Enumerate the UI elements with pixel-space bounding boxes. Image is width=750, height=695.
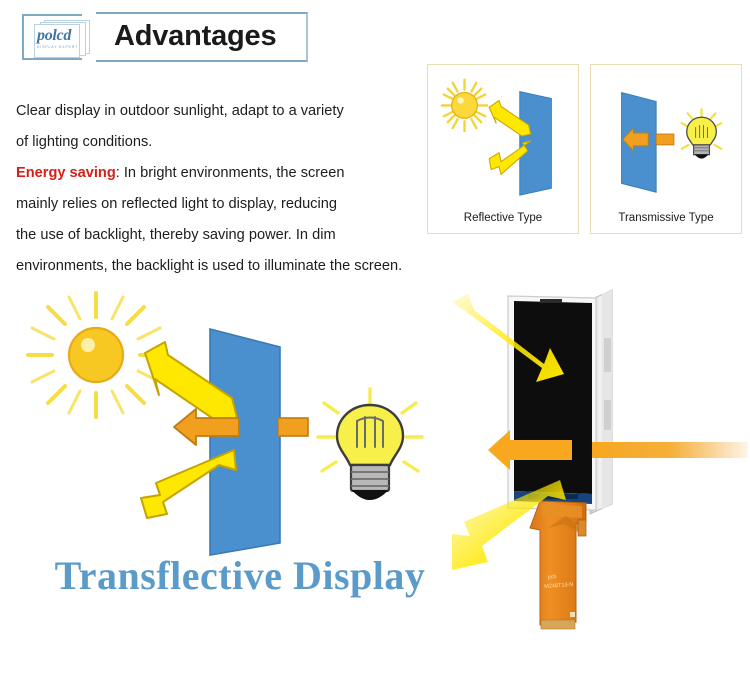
- copy-line-4: mainly relies on reflected light to disp…: [16, 189, 426, 220]
- svg-text:pcb: pcb: [547, 574, 556, 581]
- copy-line-1: Clear display in outdoor sunlight, adapt…: [16, 96, 426, 127]
- section-title-box: Advantages: [96, 12, 308, 62]
- transmissive-diagram: [591, 65, 741, 205]
- lcd-module-svg: pcb M248T13-N: [452, 282, 748, 662]
- sun-icon: [442, 80, 487, 131]
- advantages-copy: Clear display in outdoor sunlight, adapt…: [16, 96, 426, 282]
- copy-line-2: of lighting conditions.: [16, 127, 426, 158]
- lcd-module-photo: pcb M248T13-N: [452, 282, 748, 662]
- page-title: Advantages: [114, 20, 276, 53]
- copy-line-5: the use of backlight, thereby saving pow…: [16, 220, 426, 251]
- logo-tagline: DISPLAY EXPERT: [37, 45, 81, 49]
- reflective-diagram: [428, 65, 578, 205]
- light-bulb-icon: [318, 389, 422, 499]
- energy-saving-label: Energy saving: [16, 165, 116, 181]
- panel-caption: Transmissive Type: [591, 212, 741, 224]
- transflective-diagram-svg: [20, 285, 440, 555]
- brand-logo: polcd DISPLAY EXPERT: [30, 20, 92, 56]
- transflective-headline: Transflective Display: [0, 552, 480, 599]
- transmissive-type-panel: Transmissive Type: [590, 64, 742, 234]
- light-bulb-icon: [682, 109, 721, 158]
- sun-icon: [28, 293, 164, 417]
- transflective-diagram: [20, 285, 440, 555]
- reflective-type-panel: Reflective Type: [427, 64, 579, 234]
- panel-caption: Reflective Type: [428, 212, 578, 224]
- copy-line-6: environments, the backlight is used to i…: [16, 251, 426, 282]
- copy-line-3: Energy saving: In bright environments, t…: [16, 158, 426, 189]
- copy-line-3-rest: : In bright environments, the screen: [116, 165, 345, 181]
- logo-wordmark: polcd: [37, 28, 79, 44]
- display-panel-icon: [210, 329, 280, 555]
- lcd-active-area: [514, 299, 592, 494]
- page-header: polcd DISPLAY EXPERT Advantages: [0, 0, 750, 72]
- fpc-flex-cable: pcb M248T13-N: [530, 501, 586, 629]
